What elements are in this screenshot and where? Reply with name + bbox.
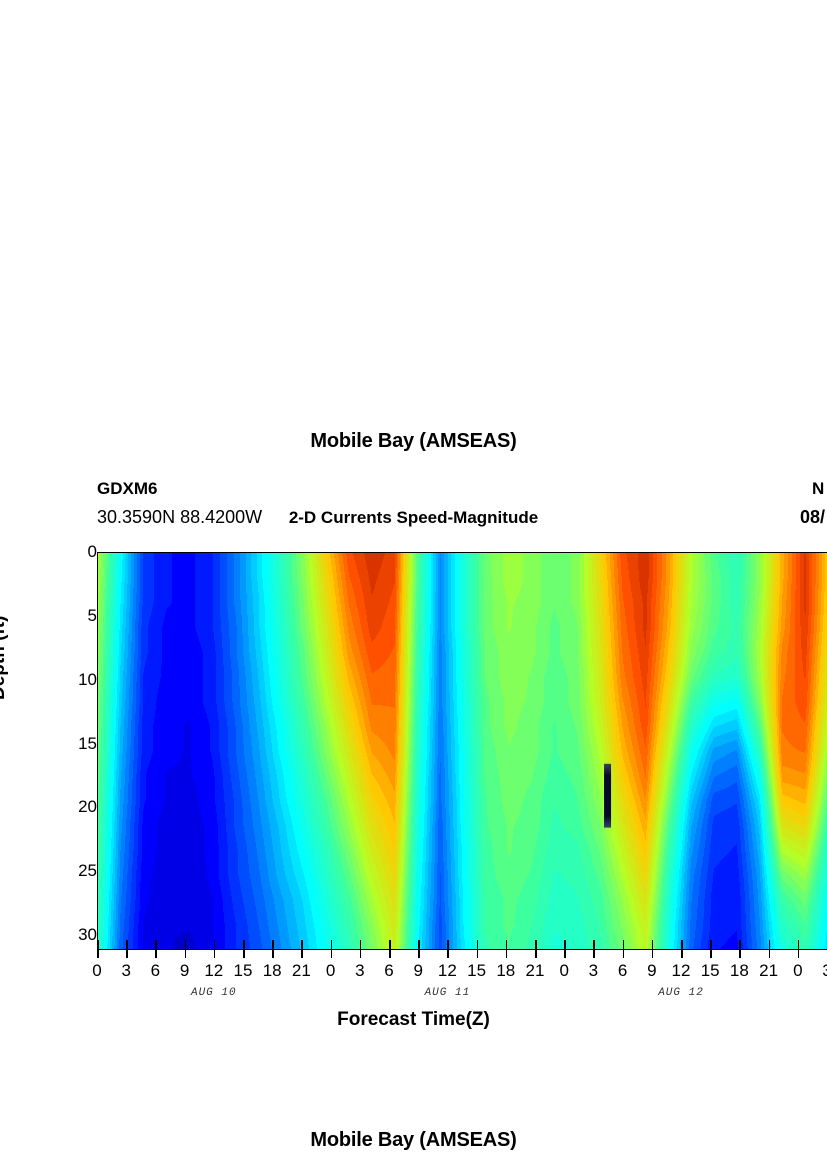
y-tick-label: 5	[63, 606, 97, 626]
x-tick-mark-inner	[477, 940, 479, 949]
x-tick-mark	[389, 949, 391, 958]
x-tick-mark-inner	[623, 940, 625, 949]
x-tick-mark-inner	[681, 940, 683, 949]
x-tick-mark-inner	[652, 940, 654, 949]
x-tick-mark-inner	[389, 940, 391, 949]
x-tick-mark-inner	[739, 940, 741, 949]
x-tick-mark	[360, 949, 362, 958]
x-tick-mark-inner	[564, 940, 566, 949]
x-tick-mark	[272, 949, 274, 958]
x-tick-mark-inner	[506, 940, 508, 949]
x-tick-mark	[447, 949, 449, 958]
x-tick-mark-inner	[185, 940, 187, 949]
x-tick-mark	[623, 949, 625, 958]
y-tick-label: 20	[63, 797, 97, 817]
station-id-label: GDXM6	[97, 479, 157, 499]
x-tick-mark-inner	[155, 940, 157, 949]
x-tick-mark	[769, 949, 771, 958]
x-tick-mark	[185, 949, 187, 958]
x-tick-label: 3	[807, 961, 827, 981]
x-tick-mark-inner	[593, 940, 595, 949]
x-tick-mark	[593, 949, 595, 958]
x-axis-day-label: AUG 10	[154, 987, 274, 999]
heatmap-plot-area[interactable]	[97, 552, 827, 950]
page-title-top: Mobile Bay (AMSEAS)	[0, 430, 827, 453]
x-tick-mark-inner	[301, 940, 303, 949]
y-tick-label: 25	[63, 861, 97, 881]
page-title-bottom: Mobile Bay (AMSEAS)	[0, 1129, 827, 1152]
x-tick-mark	[301, 949, 303, 958]
x-tick-mark	[477, 949, 479, 958]
x-tick-mark-inner	[447, 940, 449, 949]
y-tick-label: 15	[63, 734, 97, 754]
x-tick-mark-inner	[97, 940, 99, 949]
x-tick-mark-inner	[272, 940, 274, 949]
x-tick-mark	[535, 949, 537, 958]
x-axis-label: Forecast Time(Z)	[0, 1009, 827, 1031]
x-tick-mark	[739, 949, 741, 958]
x-tick-mark-inner	[331, 940, 333, 949]
x-tick-mark	[97, 949, 99, 958]
x-tick-mark-inner	[535, 940, 537, 949]
x-tick-mark	[710, 949, 712, 958]
x-tick-mark-inner	[710, 940, 712, 949]
x-tick-mark	[331, 949, 333, 958]
x-tick-mark-inner	[418, 940, 420, 949]
x-tick-mark	[214, 949, 216, 958]
x-axis-ticks: 03691215182103691215182103691215182103AU…	[97, 949, 827, 989]
x-axis-day-label: AUG 11	[387, 987, 507, 999]
x-tick-mark	[418, 949, 420, 958]
x-tick-mark	[798, 949, 800, 958]
x-tick-mark	[126, 949, 128, 958]
right-header-line2: 08/	[800, 507, 825, 528]
x-tick-mark-inner	[798, 940, 800, 949]
x-tick-mark	[243, 949, 245, 958]
x-tick-mark-inner	[126, 940, 128, 949]
x-tick-mark	[506, 949, 508, 958]
x-axis-day-label: AUG 12	[621, 987, 741, 999]
x-tick-mark	[681, 949, 683, 958]
chart-subtitle: 2-D Currents Speed-Magnitude	[0, 508, 827, 528]
right-header-line1: N	[812, 479, 824, 499]
x-tick-mark	[564, 949, 566, 958]
y-tick-label: 30	[63, 925, 97, 945]
x-tick-mark-inner	[769, 940, 771, 949]
y-axis-ticks: 051015202530	[55, 552, 97, 948]
y-tick-label: 0	[63, 542, 97, 562]
x-tick-mark	[155, 949, 157, 958]
x-tick-mark-inner	[214, 940, 216, 949]
x-tick-mark-inner	[243, 940, 245, 949]
y-axis-label: Depth (ft)	[0, 616, 10, 700]
y-tick-label: 10	[63, 670, 97, 690]
x-tick-mark	[652, 949, 654, 958]
heatmap-canvas	[98, 553, 827, 949]
x-tick-mark-inner	[360, 940, 362, 949]
